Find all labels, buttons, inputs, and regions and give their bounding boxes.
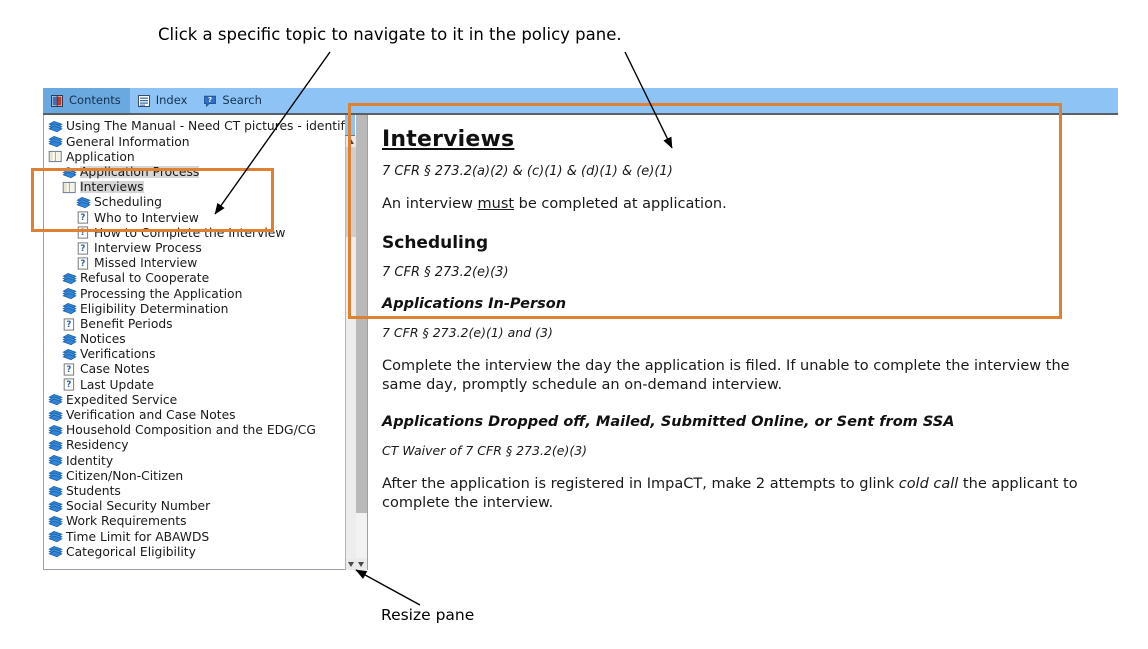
contents-tree-pane[interactable]: Using The Manual - Need CT pictures - id… bbox=[43, 115, 345, 570]
page-question-icon: ? bbox=[62, 318, 77, 331]
tree-item[interactable]: Residency bbox=[44, 438, 345, 453]
toolbar-tabs: Contents Index bbox=[43, 88, 1118, 113]
search-balloon-icon: ? bbox=[203, 94, 217, 108]
book-blue-icon bbox=[76, 196, 91, 209]
book-blue-icon bbox=[48, 530, 63, 543]
tree-item[interactable]: ?Benefit Periods bbox=[44, 316, 345, 331]
book-blue-icon bbox=[62, 287, 77, 300]
tree-item[interactable]: Scheduling bbox=[44, 195, 345, 210]
tree-item[interactable]: Expedited Service bbox=[44, 392, 345, 407]
tree-item-label: Categorical Eligibility bbox=[66, 546, 196, 558]
book-blue-icon bbox=[48, 454, 63, 467]
help-viewer-window: Contents Index bbox=[43, 88, 1118, 570]
tree-item[interactable]: Citizen/Non-Citizen bbox=[44, 468, 345, 483]
tree-item[interactable]: Application bbox=[44, 149, 345, 164]
book-blue-icon bbox=[62, 166, 77, 179]
tree-item[interactable]: Verification and Case Notes bbox=[44, 408, 345, 423]
tab-contents[interactable]: Contents bbox=[43, 88, 130, 113]
tree-item[interactable]: Work Requirements bbox=[44, 514, 345, 529]
tree-item-label: Missed Interview bbox=[94, 257, 197, 269]
tab-search[interactable]: ? Search bbox=[196, 88, 271, 113]
svg-text:?: ? bbox=[80, 213, 85, 223]
tree-item[interactable]: Verifications bbox=[44, 347, 345, 362]
pane-resize-splitter[interactable] bbox=[356, 115, 367, 570]
book-open-icon bbox=[62, 181, 77, 194]
tree-item[interactable]: Social Security Number bbox=[44, 499, 345, 514]
subsection-heading-in-person: Applications In-Person bbox=[382, 296, 1104, 312]
book-blue-icon bbox=[62, 348, 77, 361]
book-blue-icon bbox=[48, 439, 63, 452]
page-question-icon: ? bbox=[76, 211, 91, 224]
tree-item-label: Who to Interview bbox=[94, 212, 199, 224]
book-blue-icon bbox=[48, 424, 63, 437]
section-citation: 7 CFR § 273.2(e)(3) bbox=[382, 265, 1104, 280]
subsection-citation-dropped-off: CT Waiver of 7 CFR § 273.2(e)(3) bbox=[382, 443, 1104, 458]
svg-text:?: ? bbox=[80, 244, 85, 254]
book-icon bbox=[50, 94, 64, 108]
tree-item[interactable]: Refusal to Cooperate bbox=[44, 271, 345, 286]
page-question-icon: ? bbox=[76, 226, 91, 239]
tree-item-label: Citizen/Non-Citizen bbox=[66, 470, 183, 482]
tree-item-label: General Information bbox=[66, 136, 190, 148]
book-blue-icon bbox=[62, 272, 77, 285]
svg-text:?: ? bbox=[66, 320, 71, 330]
svg-text:?: ? bbox=[208, 96, 212, 104]
page-question-icon: ? bbox=[76, 242, 91, 255]
book-blue-icon bbox=[62, 333, 77, 346]
contents-tree-list[interactable]: Using The Manual - Need CT pictures - id… bbox=[44, 115, 345, 559]
policy-content-pane: Interviews 7 CFR § 273.2(a)(2) & (c)(1) … bbox=[367, 115, 1118, 570]
tree-item-label: Using The Manual - Need CT pictures - id… bbox=[66, 120, 345, 132]
title-citation: 7 CFR § 273.2(a)(2) & (c)(1) & (d)(1) & … bbox=[382, 164, 1104, 179]
help-toolbar: Contents Index bbox=[43, 88, 1118, 115]
book-blue-icon bbox=[48, 409, 63, 422]
tree-item-label: Last Update bbox=[80, 379, 154, 391]
tree-item[interactable]: Time Limit for ABAWDS bbox=[44, 529, 345, 544]
tree-item-label: How to Complete the Interview bbox=[94, 227, 285, 239]
svg-text:?: ? bbox=[80, 229, 85, 239]
tree-item-label: Social Security Number bbox=[66, 500, 210, 512]
book-blue-icon bbox=[48, 515, 63, 528]
tree-item-label: Eligibility Determination bbox=[80, 303, 228, 315]
arrow-to-resize-handle bbox=[356, 570, 420, 605]
tree-item-label: Application Process bbox=[80, 166, 199, 178]
book-blue-icon bbox=[48, 120, 63, 133]
tree-item-label: Verification and Case Notes bbox=[66, 409, 236, 421]
intro-text-before: An interview bbox=[382, 196, 478, 212]
tree-item-label: Benefit Periods bbox=[80, 318, 173, 330]
annotation-resize-pane: Resize pane bbox=[381, 606, 474, 624]
tree-item-label: Verifications bbox=[80, 348, 156, 360]
tree-item-label: Household Composition and the EDG/CG bbox=[66, 424, 316, 436]
tree-item[interactable]: ?How to Complete the Interview bbox=[44, 225, 345, 240]
tree-item[interactable]: Processing the Application bbox=[44, 286, 345, 301]
tree-item[interactable]: ?Who to Interview bbox=[44, 210, 345, 225]
tree-item-label: Expedited Service bbox=[66, 394, 177, 406]
tab-contents-label: Contents bbox=[69, 95, 121, 107]
tree-item[interactable]: Application Process bbox=[44, 165, 345, 180]
tree-item[interactable]: ?Missed Interview bbox=[44, 256, 345, 271]
page-question-icon: ? bbox=[62, 378, 77, 391]
tree-item-label: Interviews bbox=[80, 181, 144, 193]
splitter-collapse-arrow-icon[interactable] bbox=[356, 558, 367, 570]
annotation-click-topic: Click a specific topic to navigate to it… bbox=[158, 25, 622, 44]
tree-item[interactable]: ?Interview Process bbox=[44, 241, 345, 256]
tab-search-label: Search bbox=[222, 95, 262, 107]
tab-index[interactable]: Index bbox=[130, 88, 197, 113]
book-blue-icon bbox=[48, 393, 63, 406]
index-list-icon bbox=[137, 94, 151, 108]
tree-item[interactable]: ?Last Update bbox=[44, 377, 345, 392]
subsection-body-in-person: Complete the interview the day the appli… bbox=[382, 357, 1104, 396]
tree-item[interactable]: Notices bbox=[44, 332, 345, 347]
tree-item[interactable]: Students bbox=[44, 484, 345, 499]
tree-item[interactable]: ?Case Notes bbox=[44, 362, 345, 377]
tab-index-label: Index bbox=[156, 95, 188, 107]
tree-item-label: Case Notes bbox=[80, 363, 150, 375]
page-title: Interviews bbox=[382, 127, 1104, 152]
intro-text-after: be completed at application. bbox=[514, 196, 727, 212]
svg-text:?: ? bbox=[66, 365, 71, 375]
book-blue-icon bbox=[48, 545, 63, 558]
page-question-icon: ? bbox=[76, 257, 91, 270]
intro-emphasis: must bbox=[478, 196, 515, 212]
section-heading-scheduling: Scheduling bbox=[382, 233, 1104, 253]
book-blue-icon bbox=[48, 500, 63, 513]
tree-item-label: Identity bbox=[66, 455, 113, 467]
tree-item-label: Notices bbox=[80, 333, 126, 345]
page-question-icon: ? bbox=[62, 363, 77, 376]
screenshot-stage: Click a specific topic to navigate to it… bbox=[0, 0, 1148, 649]
sub2-text-before: After the application is registered in I… bbox=[382, 476, 899, 492]
subsection-heading-dropped-off: Applications Dropped off, Mailed, Submit… bbox=[382, 414, 1104, 430]
tree-item-label: Students bbox=[66, 485, 121, 497]
book-blue-icon bbox=[48, 469, 63, 482]
tree-item-label: Time Limit for ABAWDS bbox=[66, 531, 209, 543]
policy-content-body: Interviews 7 CFR § 273.2(a)(2) & (c)(1) … bbox=[368, 115, 1118, 514]
splitter-thumb[interactable] bbox=[356, 115, 367, 513]
book-blue-icon bbox=[48, 135, 63, 148]
tree-item-label: Scheduling bbox=[94, 196, 162, 208]
tree-item[interactable]: Using The Manual - Need CT pictures - id… bbox=[44, 119, 345, 134]
sub2-emphasis: cold call bbox=[899, 476, 959, 492]
tree-item[interactable]: General Information bbox=[44, 134, 345, 149]
tree-item-label: Interview Process bbox=[94, 242, 202, 254]
subsection-citation-in-person: 7 CFR § 273.2(e)(1) and (3) bbox=[382, 325, 1104, 340]
svg-text:?: ? bbox=[66, 380, 71, 390]
book-open-icon bbox=[48, 150, 63, 163]
tree-item-label: Application bbox=[66, 151, 135, 163]
tree-item[interactable]: Identity bbox=[44, 453, 345, 468]
tree-item[interactable]: Interviews bbox=[44, 180, 345, 195]
svg-text:?: ? bbox=[80, 259, 85, 269]
tree-item[interactable]: Household Composition and the EDG/CG bbox=[44, 423, 345, 438]
subsection-body-dropped-off: After the application is registered in I… bbox=[382, 475, 1104, 514]
tree-item-label: Refusal to Cooperate bbox=[80, 272, 209, 284]
tree-item-label: Work Requirements bbox=[66, 515, 187, 527]
tree-item-label: Processing the Application bbox=[80, 288, 242, 300]
tree-item[interactable]: Categorical Eligibility bbox=[44, 544, 345, 559]
intro-paragraph: An interview must be completed at applic… bbox=[382, 195, 1104, 215]
tree-item[interactable]: Eligibility Determination bbox=[44, 301, 345, 316]
tree-item-label: Residency bbox=[66, 439, 129, 451]
book-blue-icon bbox=[48, 485, 63, 498]
tree-scrollbar[interactable] bbox=[345, 136, 356, 570]
book-blue-icon bbox=[62, 302, 77, 315]
